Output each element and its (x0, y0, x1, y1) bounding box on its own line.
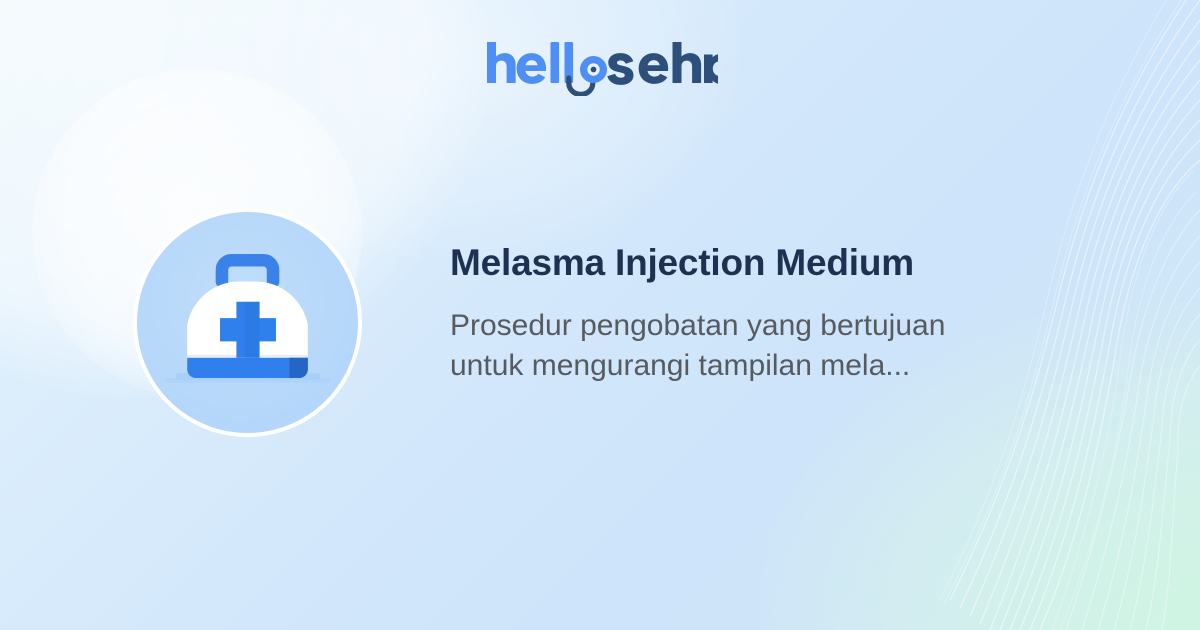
medical-bag-icon (137, 212, 358, 433)
page-subtitle: Prosedur pengobatan yang bertujuan untuk… (450, 306, 1020, 386)
page-title: Melasma Injection Medium (450, 240, 1050, 286)
article-thumbnail-medallion (133, 208, 362, 437)
brand-logo[interactable] (0, 38, 1200, 96)
share-card-canvas: Melasma Injection Medium Prosedur pengob… (0, 0, 1200, 630)
article-text-block: Melasma Injection Medium Prosedur pengob… (450, 240, 1050, 386)
hellosehat-logo-icon (483, 38, 718, 96)
